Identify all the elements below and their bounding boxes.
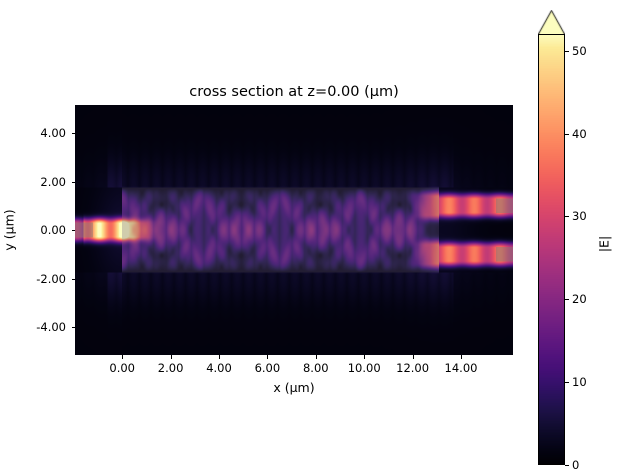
x-tick-label: 2.00 [158, 361, 184, 375]
colorbar-tick-mark [565, 382, 569, 383]
y-tick-mark [72, 327, 76, 328]
x-tick-mark [316, 355, 317, 359]
y-tick-label: -2.00 [36, 272, 66, 286]
x-axis-label: x (µm) [75, 380, 513, 395]
x-tick-mark [267, 355, 268, 359]
field-heatmap [75, 105, 513, 355]
colorbar-tick-mark [565, 299, 569, 300]
y-tick-mark [72, 133, 76, 134]
colorbar-tick-label: 50 [572, 44, 587, 58]
y-axis-label: y (µm) [2, 209, 17, 250]
colorbar-tick-label: 20 [572, 292, 587, 306]
y-tick-label: -4.00 [36, 320, 66, 334]
colorbar-gradient-canvas [538, 34, 565, 465]
colorbar-extend-arrow [538, 10, 565, 34]
x-tick-mark [122, 355, 123, 359]
x-tick-label: 14.00 [445, 361, 478, 375]
colorbar-tick-label: 0 [572, 458, 579, 472]
colorbar-gradient [538, 34, 565, 465]
colorbar-tick-label: 30 [572, 209, 587, 223]
colorbar-tick-mark [565, 51, 569, 52]
x-tick-label: 8.00 [303, 361, 329, 375]
colorbar-tick-label: 10 [572, 375, 587, 389]
colorbar-tick-mark [565, 134, 569, 135]
y-tick-label: 0.00 [40, 223, 66, 237]
y-tick-mark [72, 182, 76, 183]
y-tick-mark [72, 279, 76, 280]
colorbar-tick-mark [565, 465, 569, 466]
x-tick-label: 6.00 [255, 361, 281, 375]
figure-canvas: cross section at z=0.00 (µm) x (µm) y (µ… [0, 0, 617, 469]
x-tick-label: 12.00 [396, 361, 429, 375]
colorbar: 01020304050 |E| [538, 10, 608, 458]
x-tick-label: 4.00 [206, 361, 232, 375]
colorbar-tick-mark [565, 216, 569, 217]
y-tick-label: 2.00 [40, 175, 66, 189]
x-tick-mark [413, 355, 414, 359]
y-tick-mark [72, 230, 76, 231]
colorbar-tick-label: 40 [572, 127, 587, 141]
page-title: cross section at z=0.00 (µm) [75, 84, 513, 100]
x-tick-mark [461, 355, 462, 359]
x-tick-label: 10.00 [348, 361, 381, 375]
colorbar-label: |E| [597, 236, 612, 252]
y-tick-label: 4.00 [40, 126, 66, 140]
x-tick-mark [364, 355, 365, 359]
x-tick-mark [219, 355, 220, 359]
field-plot-axes [75, 105, 513, 355]
x-tick-mark [171, 355, 172, 359]
x-tick-label: 0.00 [109, 361, 135, 375]
